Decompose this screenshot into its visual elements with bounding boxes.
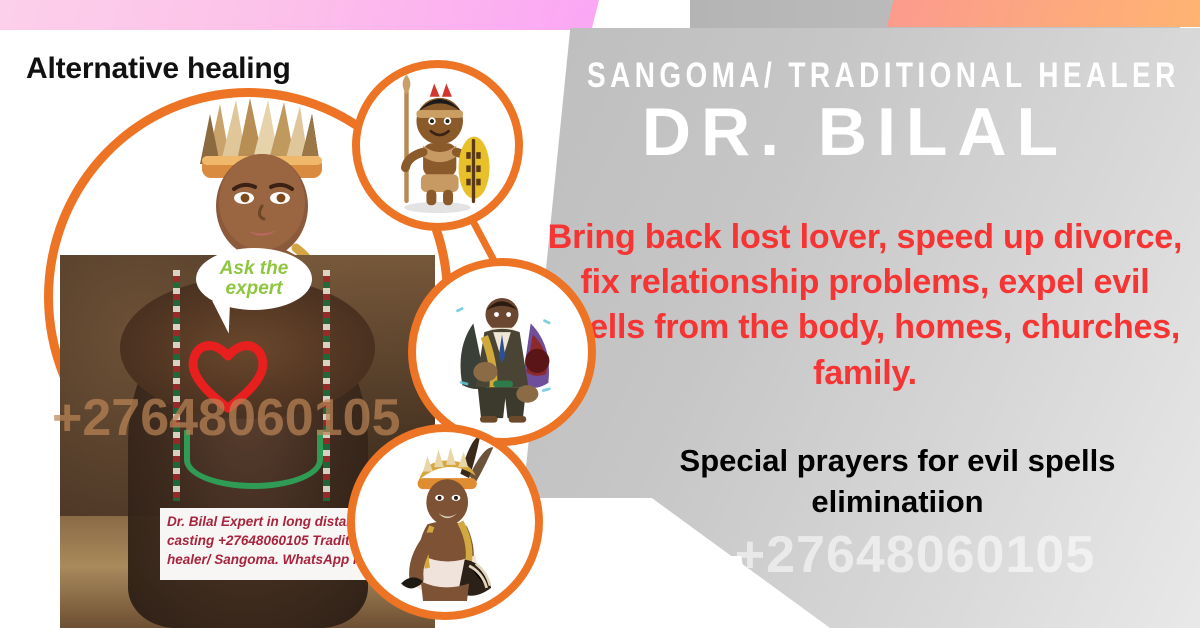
ask-the-expert-label: Ask the expert: [196, 259, 312, 299]
services-red-text: Bring back lost lover, speed up divorce,…: [535, 215, 1195, 396]
kicker-headline: SANGOMA/ TRADITIONAL HEALER: [587, 58, 1123, 95]
special-prayers-text: Special prayers for evil spells eliminat…: [600, 440, 1195, 522]
robed-healer-figure-icon: [416, 266, 588, 438]
circle-robed-healer: [408, 258, 596, 446]
crouching-sangoma-figure-icon: [355, 432, 535, 612]
healer-portrait-illustration: [150, 98, 365, 273]
photo-bead-strand-right: [323, 270, 330, 501]
photo-bead-strand-left: [173, 270, 180, 501]
circle-crouching-sangoma: [347, 424, 543, 620]
zulu-warrior-cartoon-icon: [360, 68, 515, 223]
top-pink-bar: [0, 0, 600, 30]
right-text-column: SANGOMA/ TRADITIONAL HEALER DR. BILAL: [520, 40, 1190, 168]
photo-necklace: [184, 430, 324, 488]
alternative-healing-heading: Alternative healing: [26, 52, 291, 86]
doctor-name-title: DR. BILAL: [520, 97, 1190, 168]
ask-the-expert-bubble: Ask the expert: [196, 248, 312, 310]
circle-zulu-warrior: [352, 60, 523, 231]
poster-canvas: SANGOMA/ TRADITIONAL HEALER DR. BILAL Br…: [0, 0, 1200, 628]
top-orange-bar: [887, 0, 1200, 27]
